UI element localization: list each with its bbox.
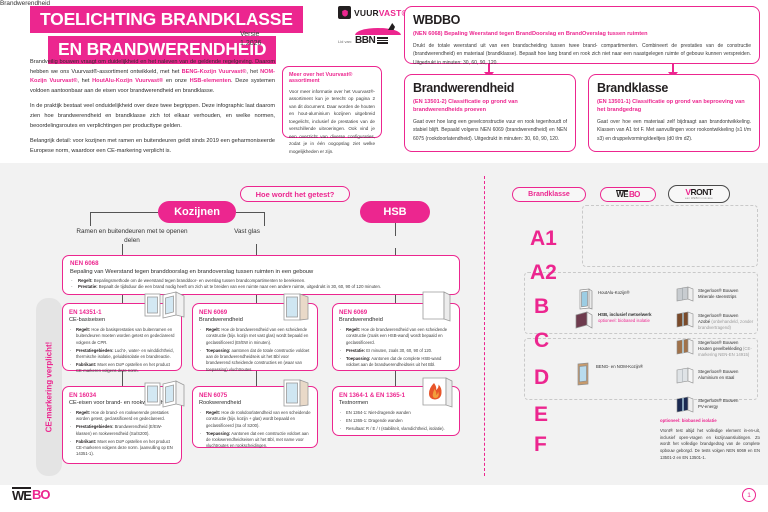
door-icon (280, 378, 314, 408)
version-label: Versie (240, 30, 261, 39)
bbn-logo-text: BBN (355, 35, 375, 46)
title-line-1: TOELICHTING BRANDKLASSE (30, 6, 303, 33)
version-value: 1.2026 (240, 39, 261, 48)
panel-brown-icon (676, 311, 694, 333)
product-sub: PV-energy (698, 404, 718, 409)
product-name: Stegerloos® Bouwen (698, 288, 738, 293)
product-sub: Aluminium en staal (698, 375, 734, 380)
product-label: Stegerloos® Bouwen Azobé (onbehandeld, z… (698, 311, 768, 332)
product-label: Stegerloos® Bouwen Houten gevelbekleding… (698, 338, 768, 359)
product-sub: Minerale steenstrips (698, 294, 736, 299)
card-bullets: Regelt: Hoe de brand- en rookwerende pre… (69, 410, 175, 458)
webo-logo-we: WE (616, 190, 628, 199)
connector-kozijnen-right-drop (264, 212, 265, 226)
brandklasse-subtitle: (EN 13501-1) Classificatie op grond van … (597, 98, 751, 114)
product-name: Stegerloos® Bouwen (698, 369, 738, 374)
product-sub: Azobé (698, 319, 710, 324)
chip-brandklasse-right: Brandklasse (512, 187, 586, 202)
grade-f: F (534, 434, 547, 455)
page-number-badge: 1 (742, 488, 756, 502)
vuurvast-logo-text: VUURVAST® (354, 8, 408, 18)
connector-bar-to-card-b (256, 295, 257, 303)
brandwerendheid-body: Gaat over hoe lang een gevelconstructie … (413, 118, 567, 143)
panel-grey-icon (676, 286, 694, 307)
product-sub: Houten gevelbekleding (698, 346, 742, 351)
connector-card-b-to-e (256, 371, 257, 386)
card-bullets: Regelt: Hoe de rookdoorlatendheid van ee… (199, 410, 311, 450)
assortment-callout: Meer over het Vuurvast® assortiment Voor… (282, 66, 382, 138)
list-item: Prestatie: Bepaalt de tijdsduur die een … (70, 284, 452, 290)
list-item: Regelt: Hoe de basisprestaties van buite… (69, 327, 175, 346)
header-band: TOELICHTING BRANDKLASSE EN BRANDWERENDHE… (0, 0, 768, 160)
panel-wood-icon (676, 338, 694, 360)
product-azobe: Stegerloos® Bouwen Azobé (onbehandeld, z… (676, 311, 768, 333)
connector-ramen-to-bar (122, 244, 123, 255)
page-title: TOELICHTING BRANDKLASSE EN BRANDWERENDHE… (30, 6, 330, 64)
list-item: Regelt: Hoe de brandwerendheid van een s… (339, 327, 453, 346)
product-beng-nom-kozijn: BENG- en NOM-Kozijn® (576, 362, 643, 391)
product-hsb-metselwerk: HSB, inclusief metselwerk optioneel: bio… (574, 310, 652, 335)
product-label: Stegerloos® Bouwen Minerale steenstrips (698, 286, 738, 300)
vertical-divider (484, 176, 485, 476)
connector-bar-to-card-c (395, 295, 396, 303)
product-aluminium-staal: Stegerloos® Bouwen Aluminium en staal (676, 367, 738, 389)
panel-pv-icon (676, 396, 694, 418)
card-bullets: Regelt: Hoe de basisprestaties van buite… (69, 327, 175, 375)
grade-b: B (534, 296, 549, 317)
grade-e: E (534, 404, 548, 425)
connector-kozijnen-horizontal-right (236, 212, 264, 213)
nen6068-subtitle: Bepaling van Weerstand tegen branddoorsl… (70, 269, 452, 275)
bbn-bars-icon (377, 37, 388, 43)
card-bullets: EN 1364-1: Niet-dragende wanden EN 1365-… (339, 410, 453, 432)
branch-label-ramen: Ramen en buitendeuren met te openen dele… (72, 228, 192, 246)
list-item: Regelt: Hoe de brand- en rookwerende pre… (69, 410, 175, 423)
connector-card-c-to-f (395, 371, 396, 386)
list-item: Regelt: Hoe de brandwerendheid van een s… (199, 327, 311, 346)
brandwerendheid-heading: Brandwerendheid (413, 81, 567, 95)
panel-alu-icon (676, 367, 694, 389)
window-pair-icon (143, 291, 187, 319)
list-item: Prestatiegebieden: Lucht-, water- en win… (69, 348, 175, 361)
product-label: Stegerloos® Bouwen Aluminium en staal (698, 367, 738, 381)
list-item: EN 1365-1: Dragende wanden (339, 418, 453, 424)
product-name: Stegerloos® Bouwen (698, 398, 738, 403)
card-bullets: Regelt: Hoe de brandwerendheid van een s… (339, 327, 453, 368)
panel-icon (420, 290, 454, 322)
assortment-body: Voor meer informatie over het Vuurvast®-… (289, 88, 375, 155)
list-item: Resultaat: R / E / I (stabiliteit, vlamd… (339, 426, 453, 432)
connector-kozijnen-horizontal (90, 212, 158, 213)
door-icon (280, 292, 314, 322)
intro-paragraph-2: In de praktijk bestaat veel onduidelijkh… (30, 102, 275, 131)
footer-logo-bo: BO (32, 488, 50, 501)
definition-card-brandklasse: Brandklasse (EN 13501-1) Classificatie o… (588, 74, 760, 152)
vront-logo-subtitle: een WEBO innovatie (685, 197, 713, 200)
connector-bar-to-card-a (122, 295, 123, 303)
bbn-logo: Lid van: BBN (338, 28, 401, 46)
grade-a1: A1 (530, 228, 557, 249)
product-note: optioneel: biobased isolatie (598, 318, 650, 323)
definition-card-brandwerendheid: Brandwerendheid (EN 13501-2) Classificat… (404, 74, 576, 152)
webo-footer-logo: WEBO (12, 487, 49, 502)
list-item: Fabrikant: Moet een DoP opstellen en het… (69, 362, 175, 375)
connector-vastglas-to-bar (256, 244, 257, 255)
brandwerendheid-subtitle: (EN 13501-2) Classificatie op grond van … (413, 98, 567, 114)
list-item: Toepassing: Aantonen dat een constructie… (199, 431, 311, 450)
brandklasse-heading: Brandklasse (597, 81, 751, 95)
list-item: Toepassing: Aantonen dat de complete HSB… (339, 356, 453, 369)
grade-c: C (534, 330, 549, 351)
bbn-lid-label: Lid van: (338, 39, 352, 44)
webo-logo-bo: BO (629, 191, 640, 199)
intro-paragraph-3: Belangrijk detail: voor kozijnen met ram… (30, 137, 275, 156)
ce-markering-label: CE-markering verplicht! (45, 342, 54, 433)
product-name: HSB, inclusief metselwerk (598, 312, 652, 317)
connector-hsb-drop (395, 223, 396, 236)
nen6068-bullets: Regelt: Bepalingsmethode om de weerstand… (70, 278, 452, 291)
optional-biobased-note: optioneel: biobased isolatie (660, 418, 717, 423)
brandklasse-body: Gaat over hoe een materiaal zelf bijdraa… (597, 118, 751, 143)
assortment-title: Meer over het Vuurvast® assortiment (289, 72, 375, 84)
grade-d: D (534, 367, 549, 388)
product-houten-gevelbekleding: Stegerloos® Bouwen Houten gevelbekleding… (676, 338, 768, 360)
version-info: Versie 1.2026 (240, 30, 261, 49)
product-label: HoutAlu-Kozijn® (598, 288, 630, 296)
flame-panel-icon (420, 376, 456, 408)
vront-logo-text: VRONT (685, 188, 712, 197)
list-item: Prestatiegebieden: Brandwerendheid (E/EW… (69, 424, 175, 437)
zone-a1-a2 (582, 205, 758, 267)
product-label: HSB, inclusief metselwerk optioneel: bio… (598, 310, 652, 324)
product-label: BENG- en NOM-Kozijn® (596, 362, 643, 370)
list-item: EN 1364-1: Niet-dragende wanden (339, 410, 453, 416)
card-bullets: Regelt: Hoe de brandwerendheid van een s… (199, 327, 311, 373)
product-minerale-steenstrips: Stegerloos® Bouwen Minerale steenstrips (676, 286, 738, 307)
chip-how-tested: Hoe wordt het getest? (240, 186, 350, 202)
vront-footnote: Vront® test altijd het volledige element… (660, 428, 760, 462)
hsb-wall-icon (574, 310, 594, 335)
product-name: Stegerloos® Bouwen (698, 340, 738, 345)
list-item: Regelt: Hoe de rookdoorlatendheid van ee… (199, 410, 311, 429)
product-label: Stegerloos® Bouwen PV-energy (698, 396, 738, 410)
wbdbo-subtitle: (NEN 6068) Bepaling Weerstand tegen Bran… (413, 30, 751, 38)
product-name: Stegerloos® Bouwen (698, 313, 738, 318)
nen6068-bar: NEN 6068 Bepaling van Weerstand tegen br… (62, 255, 460, 295)
connector-hsb-to-bar (395, 248, 396, 255)
definition-card-wbdbo: WBDBO (NEN 6068) Bepaling Weerstand tege… (404, 6, 760, 64)
window-pair-icon (143, 380, 187, 408)
connector-kozijnen-left-drop (90, 212, 91, 226)
infographic-page: TOELICHTING BRANDKLASSE EN BRANDWERENDHE… (0, 0, 768, 512)
bbn-mark-icon: BBN (355, 28, 401, 46)
list-item: Fabrikant: Moet een DoP opstellen en het… (69, 439, 175, 458)
chip-kozijnen: Kozijnen (158, 201, 236, 223)
grade-a2: A2 (530, 262, 557, 283)
webo-logo-chip: WEBO (600, 187, 656, 202)
vuurvast-logo: VUURVAST® (338, 6, 408, 19)
vront-logo-chip: VRONT een WEBO innovatie (668, 185, 730, 203)
nen6068-title: NEN 6068 (70, 260, 452, 267)
wbdbo-body: Drukt de totale weerstand uit van een br… (413, 42, 751, 67)
door-beige-icon (576, 362, 592, 391)
branch-label-vastglas: Vast glas (212, 228, 282, 237)
vuurvast-shield-icon (338, 6, 351, 19)
wbdbo-heading: WBDBO (413, 13, 751, 27)
product-pv-energy: Stegerloos® Bouwen PV-energy (676, 396, 738, 418)
chip-hsb: HSB (360, 201, 430, 223)
list-item: Prestatie: EI minuten, zoals 30, 60, 90 … (339, 348, 453, 354)
footer-logo-we: WE (12, 487, 31, 502)
branch-label-hsb: Brandwerendheid (0, 0, 50, 9)
intro-paragraph-1: Brandveilig bouwen vraagt om duidelijkhe… (30, 58, 275, 96)
ce-markering-strip: CE-markering verplicht! (36, 298, 62, 476)
intro-text: Brandveilig bouwen vraagt om duidelijkhe… (30, 58, 275, 162)
list-item: Toepassing: aantonen dat de totale const… (199, 348, 311, 374)
